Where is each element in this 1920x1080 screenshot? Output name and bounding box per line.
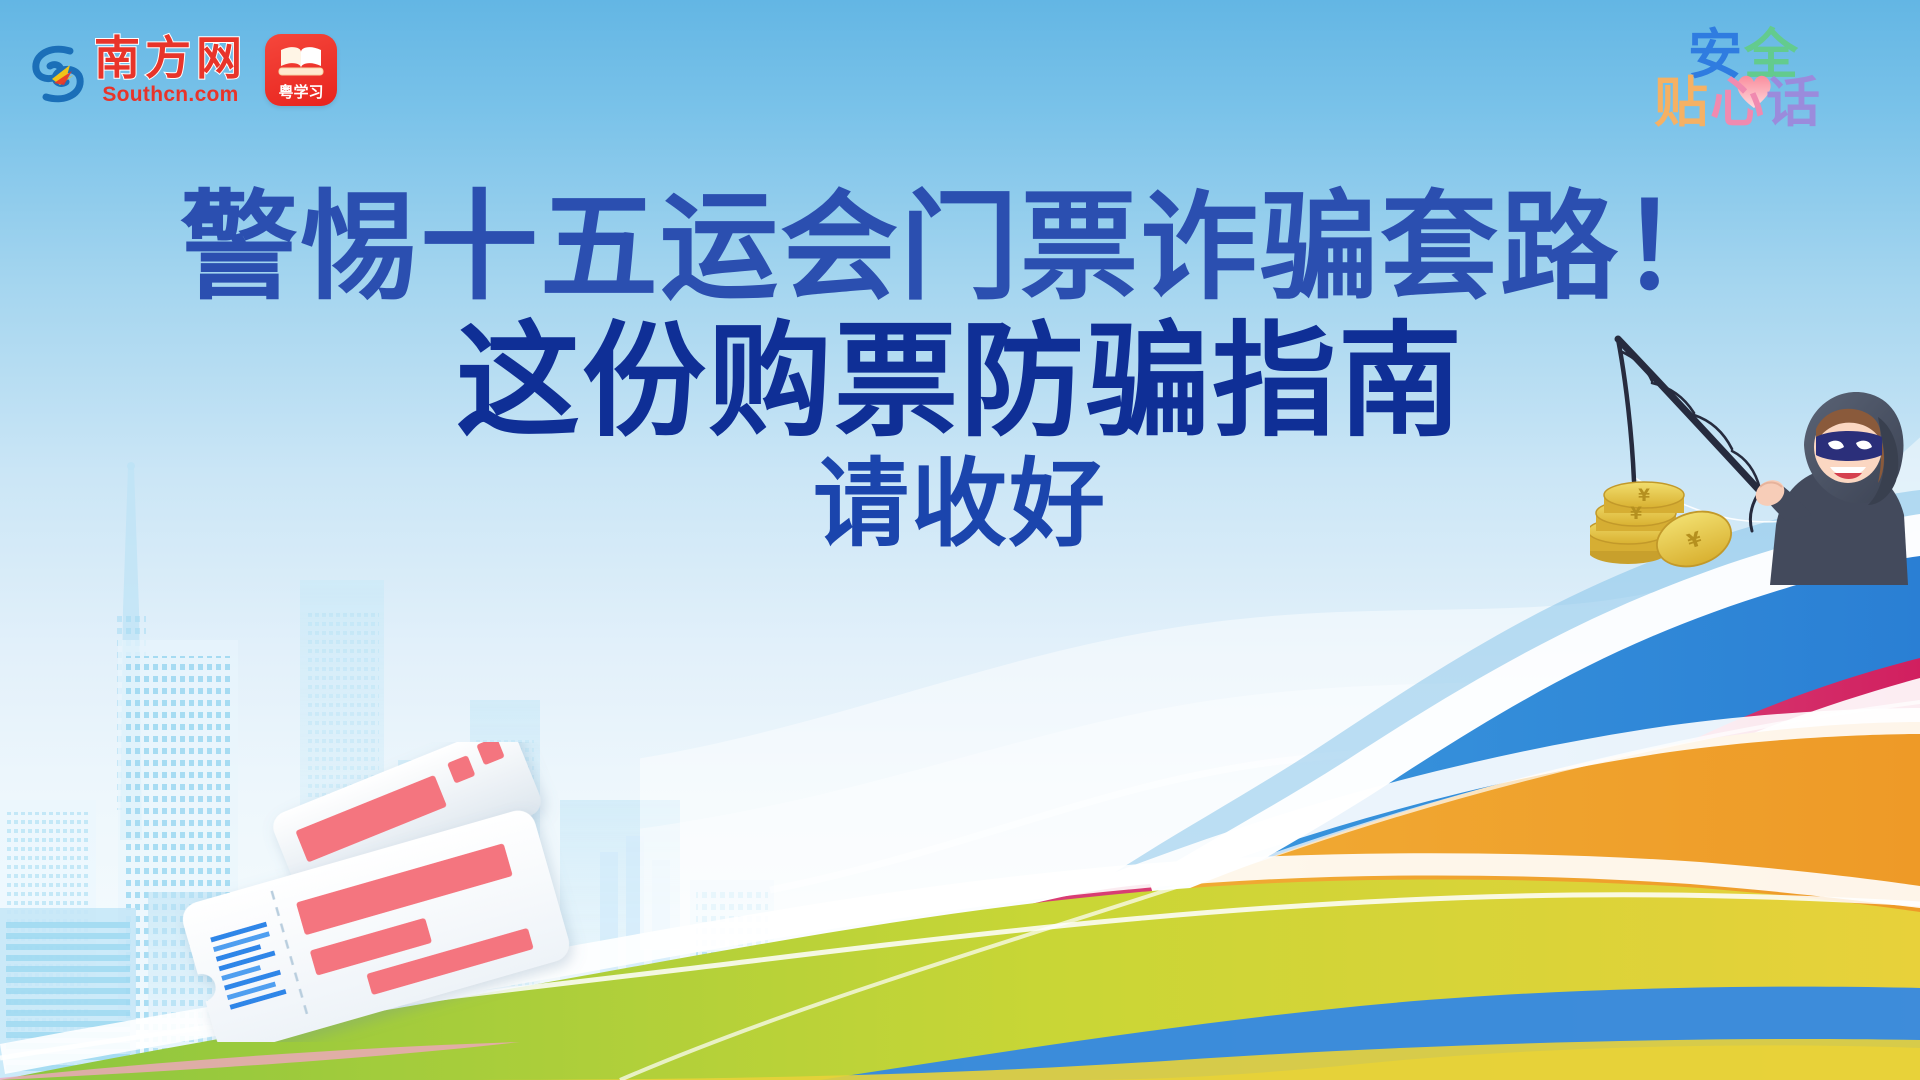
yuexuexi-app-icon[interactable]: 粤学习 [265, 34, 337, 106]
poster-canvas: 南方网 Southcn.com 粤学习 安 全 [0, 0, 1920, 1080]
safety-logo-char-hua: 话 [1766, 76, 1820, 130]
southcn-logo[interactable]: 南方网 Southcn.com [30, 35, 247, 105]
brand-logo-bar: 南方网 Southcn.com 粤学习 [30, 34, 337, 106]
southcn-cn-name: 南方网 [94, 35, 247, 81]
southcn-swirl-icon [30, 43, 86, 105]
safety-logo-char-xin: 心 [1710, 76, 1764, 130]
safety-logo-char-tie: 贴 [1654, 76, 1708, 130]
yuexuexi-label: 粤学习 [278, 81, 323, 102]
event-tickets-illustration [175, 742, 605, 1042]
open-book-icon [277, 44, 325, 80]
safety-campaign-logo: 安 全 贴 心 话 [1636, 28, 1886, 134]
title-line-1: 警惕十五运会门票诈骗套路！ [0, 188, 1920, 306]
poster-title: 警惕十五运会门票诈骗套路！ 这份购票防骗指南 请收好 [0, 188, 1920, 552]
title-line-3: 请收好 [0, 456, 1920, 552]
southcn-en-name: Southcn.com [102, 84, 238, 105]
title-line-2: 这份购票防骗指南 [0, 320, 1920, 444]
